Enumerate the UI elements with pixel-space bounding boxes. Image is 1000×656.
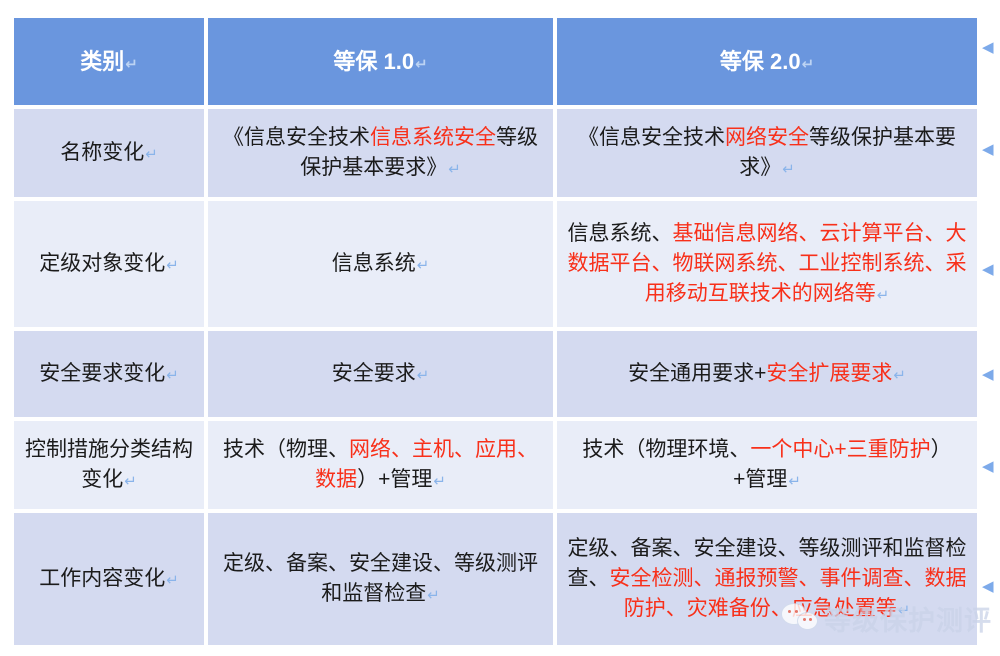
cell-category: 安全要求变化↵ [14,331,204,417]
column-header-category: 类别↵ [14,18,204,105]
line-return-mark: ↵ [892,366,906,384]
cell-v1: 安全要求↵ [208,331,553,417]
paragraph-mark-column: ◀◀◀◀◀◀ [982,14,1000,634]
line-return-mark: ↵ [432,472,446,490]
cell-category: 控制措施分类结构变化↵ [14,421,204,509]
text-run: 信息系统 [332,252,416,275]
cell-v2: 安全通用要求+安全扩展要求↵ [557,331,977,417]
line-return-mark: ↵ [165,571,179,589]
line-return-mark: ↵ [897,601,911,619]
column-header-label: 等保 2.0 [720,49,801,74]
line-return-mark: ↵ [144,145,158,163]
table-body: 类别↵等保 1.0↵等保 2.0↵名称变化↵《信息安全技术信息系统安全等级保护基… [14,18,977,645]
category-label: 定级对象变化 [39,252,165,275]
paragraph-mark: ◀ [982,40,994,55]
text-run: 信息系统、 [568,222,673,245]
line-return-mark: ↵ [426,586,440,604]
text-run: 安全要求 [332,362,416,385]
cell-v1: 《信息安全技术信息系统安全等级保护基本要求》↵ [208,109,553,197]
line-return-mark: ↵ [416,366,430,384]
line-return-mark: ↵ [124,55,138,73]
text-run: 安全通用要求+ [628,362,766,385]
text-run: ）+管理 [357,468,432,491]
cell-v1: 定级、备案、安全建设、等级测评和监督检查↵ [208,513,553,645]
line-return-mark: ↵ [416,256,430,274]
category-label: 控制措施分类结构变化 [25,438,193,491]
text-run: 技术（物理、 [223,438,349,461]
text-run: 技术（物理环境、 [582,438,750,461]
text-run: 《信息安全技术 [578,126,725,149]
table-row: 定级对象变化↵信息系统↵信息系统、基础信息网络、云计算平台、大数据平台、物联网系… [14,201,977,327]
line-return-mark: ↵ [781,160,795,178]
table-row: 工作内容变化↵定级、备案、安全建设、等级测评和监督检查↵定级、备案、安全建设、等… [14,513,977,645]
document-page: 类别↵等保 1.0↵等保 2.0↵名称变化↵《信息安全技术信息系统安全等级保护基… [0,0,1000,656]
highlight-run: 安全扩展要求 [766,362,892,385]
paragraph-mark: ◀ [982,367,994,382]
line-return-mark: ↵ [876,286,890,304]
line-return-mark: ↵ [123,472,137,490]
cell-category: 工作内容变化↵ [14,513,204,645]
text-run: 《信息安全技术 [223,126,370,149]
line-return-mark: ↵ [447,160,461,178]
line-return-mark: ↵ [414,55,428,73]
line-return-mark: ↵ [787,472,801,490]
table-row: 安全要求变化↵安全要求↵安全通用要求+安全扩展要求↵ [14,331,977,417]
column-header-label: 类别 [80,49,124,74]
category-label: 工作内容变化 [39,567,165,590]
table-header-row: 类别↵等保 1.0↵等保 2.0↵ [14,18,977,105]
cell-v1: 技术（物理、网络、主机、应用、数据）+管理↵ [208,421,553,509]
paragraph-mark: ◀ [982,579,994,594]
highlight-run: 安全检测、通报预警、事件调查、数据防护、灾难备份、应急处置等 [610,567,967,620]
cell-category: 定级对象变化↵ [14,201,204,327]
table-row: 控制措施分类结构变化↵技术（物理、网络、主机、应用、数据）+管理↵技术（物理环境… [14,421,977,509]
column-header-label: 等保 1.0 [333,49,414,74]
line-return-mark: ↵ [801,55,815,73]
text-run: 定级、备案、安全建设、等级测评和监督检查 [223,552,538,605]
highlight-run: 信息系统安全 [370,126,496,149]
paragraph-mark: ◀ [982,262,994,277]
column-header-v2: 等保 2.0↵ [557,18,977,105]
category-label: 安全要求变化 [39,362,165,385]
table-row: 名称变化↵《信息安全技术信息系统安全等级保护基本要求》↵《信息安全技术网络安全等… [14,109,977,197]
category-label: 名称变化 [60,141,144,164]
line-return-mark: ↵ [165,366,179,384]
column-header-v1: 等保 1.0↵ [208,18,553,105]
cell-v1: 信息系统↵ [208,201,553,327]
highlight-run: 一个中心+三重防护 [750,438,930,461]
cell-v2: 定级、备案、安全建设、等级测评和监督检查、安全检测、通报预警、事件调查、数据防护… [557,513,977,645]
paragraph-mark: ◀ [982,459,994,474]
cell-v2: 信息系统、基础信息网络、云计算平台、大数据平台、物联网系统、工业控制系统、采用移… [557,201,977,327]
comparison-table: 类别↵等保 1.0↵等保 2.0↵名称变化↵《信息安全技术信息系统安全等级保护基… [10,14,981,649]
cell-category: 名称变化↵ [14,109,204,197]
highlight-run: 网络安全 [725,126,809,149]
cell-v2: 《信息安全技术网络安全等级保护基本要求》↵ [557,109,977,197]
line-return-mark: ↵ [165,256,179,274]
paragraph-mark: ◀ [982,142,994,157]
cell-v2: 技术（物理环境、一个中心+三重防护）+管理↵ [557,421,977,509]
